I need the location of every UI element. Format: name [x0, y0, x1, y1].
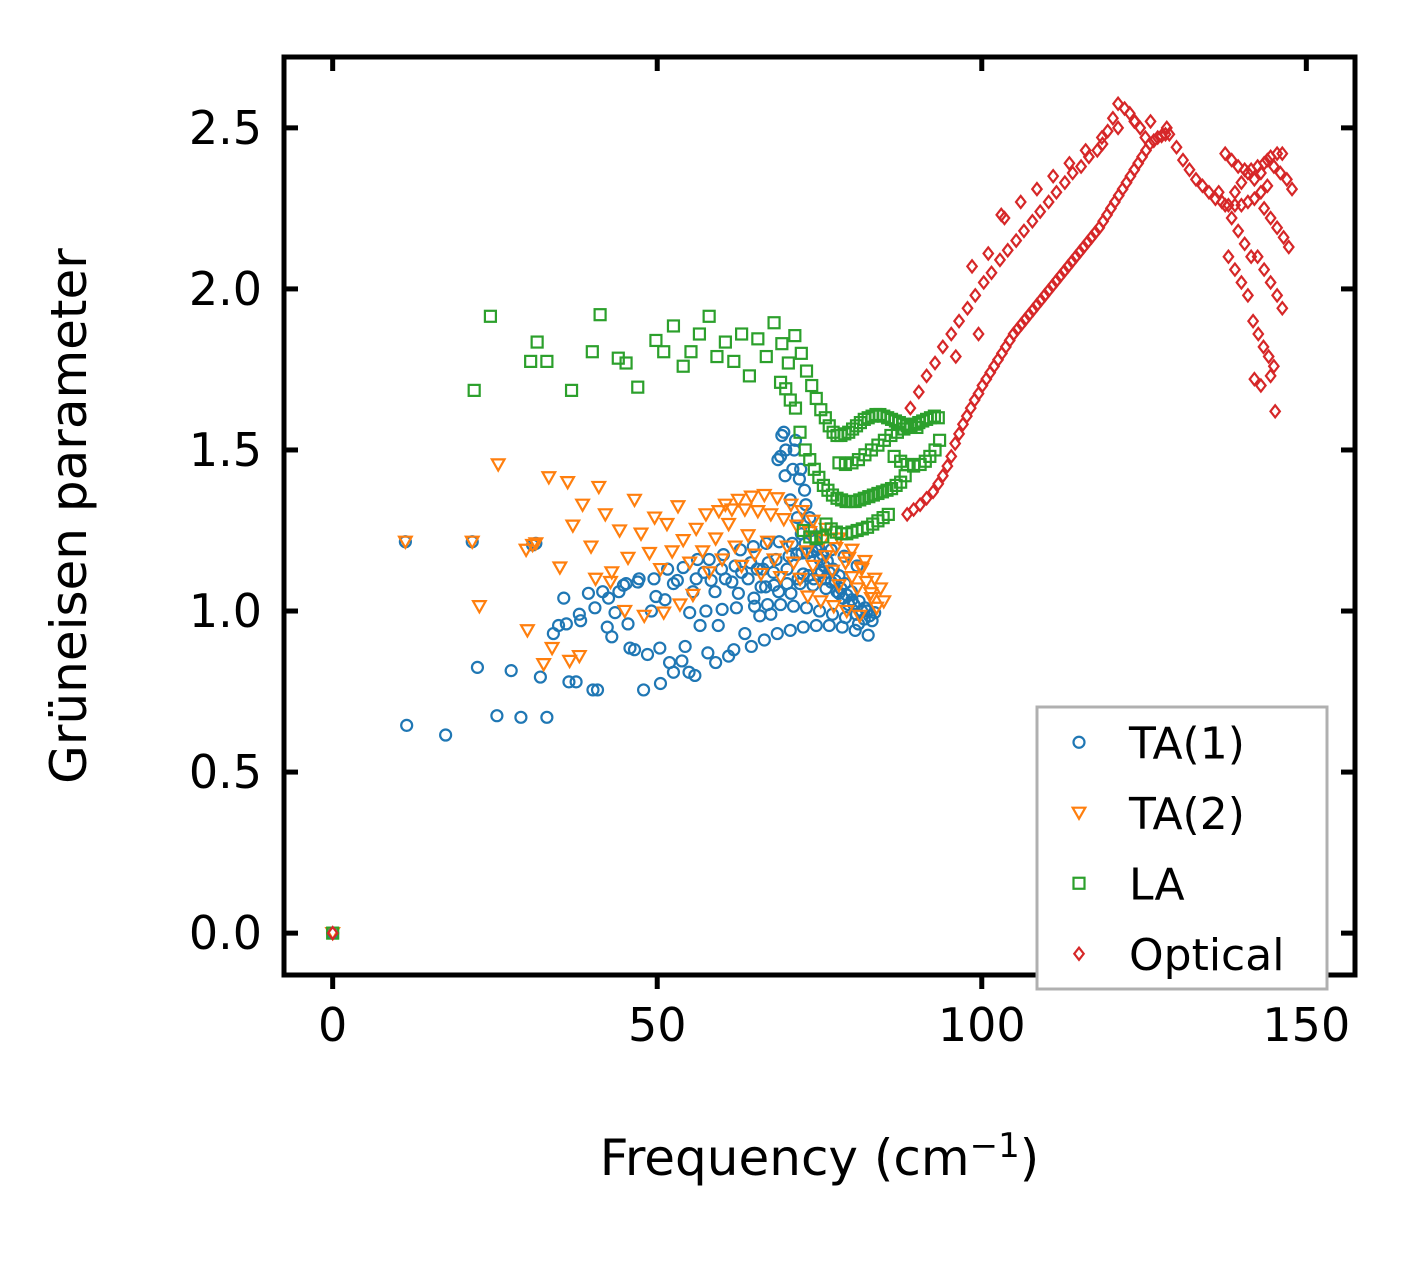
data-point-diamond — [1259, 264, 1268, 276]
data-point-circle — [772, 454, 783, 465]
data-point-triangle-down — [661, 519, 674, 530]
data-point-triangle-down — [567, 521, 580, 532]
data-point-square — [566, 385, 577, 396]
data-point-circle — [401, 720, 412, 731]
data-point-circle — [778, 427, 789, 438]
data-point-diamond — [1254, 328, 1263, 340]
data-point-diamond — [1230, 199, 1239, 211]
data-point-circle — [695, 620, 706, 631]
data-point-circle — [746, 641, 757, 652]
data-point-circle — [668, 667, 679, 678]
data-point-circle — [654, 643, 665, 654]
data-point-triangle-down — [846, 572, 859, 583]
data-point-diamond — [1279, 231, 1288, 243]
data-point-square — [776, 338, 787, 349]
data-point-triangle-down — [635, 529, 648, 540]
data-point-circle — [799, 485, 810, 496]
data-point-diamond — [1259, 341, 1268, 353]
data-point-square — [485, 311, 496, 322]
data-point-circle — [713, 620, 724, 631]
data-point-circle — [541, 712, 552, 723]
data-point-diamond — [1248, 315, 1257, 327]
data-point-circle — [702, 647, 713, 658]
data-point-triangle-down — [561, 477, 574, 488]
data-point-circle — [733, 588, 744, 599]
data-point-square — [587, 346, 598, 357]
data-point-triangle-down — [521, 625, 534, 636]
data-point-circle — [785, 625, 796, 636]
data-point-circle — [700, 606, 711, 617]
data-point-circle — [583, 588, 594, 599]
data-point-square — [811, 393, 822, 404]
data-point-triangle-down — [585, 542, 598, 553]
data-point-circle — [558, 593, 569, 604]
data-point-square — [720, 337, 731, 348]
data-point-diamond — [1233, 225, 1242, 237]
data-point-triangle-down — [683, 558, 696, 569]
legend-label: TA(1) — [1128, 718, 1245, 769]
data-point-triangle-down — [638, 611, 651, 622]
data-point-diamond — [971, 289, 980, 301]
data-point-diamond — [1230, 186, 1239, 198]
data-point-diamond — [1048, 170, 1057, 182]
data-point-circle — [606, 631, 617, 642]
data-point-triangle-down — [677, 535, 690, 546]
x-tick-label: 150 — [1262, 998, 1350, 1052]
data-point-circle — [571, 676, 582, 687]
data-point-square — [704, 311, 715, 322]
data-point-circle — [759, 635, 770, 646]
data-point-diamond — [967, 260, 976, 272]
data-point-diamond — [1035, 206, 1044, 218]
data-point-circle — [491, 710, 502, 721]
data-point-triangle-down — [687, 590, 700, 601]
data-point-diamond — [1011, 235, 1020, 247]
data-point-triangle-down — [643, 548, 656, 559]
data-point-square — [806, 380, 817, 391]
data-point-triangle-down — [690, 524, 703, 535]
data-point-triangle-down — [573, 651, 586, 662]
data-point-diamond — [979, 276, 988, 288]
data-point-square — [532, 337, 543, 348]
data-point-diamond — [1227, 212, 1236, 224]
data-point-triangle-down — [801, 591, 814, 602]
data-point-triangle-down — [576, 500, 589, 511]
data-point-triangle-down — [473, 601, 486, 612]
data-point-circle — [623, 618, 634, 629]
data-point-circle — [837, 622, 848, 633]
data-point-diamond — [1270, 405, 1279, 417]
data-point-diamond — [1172, 141, 1181, 153]
data-point-circle — [655, 678, 666, 689]
y-tick-label: 1.0 — [189, 584, 262, 638]
data-point-triangle-down — [700, 509, 713, 520]
data-point-triangle-down — [709, 533, 722, 544]
figure-scatter-plot: 0501001500.00.51.01.52.02.5Frequency (cm… — [0, 0, 1421, 1264]
data-point-diamond — [1266, 276, 1275, 288]
data-point-circle — [775, 599, 786, 610]
x-tick-label: 100 — [938, 998, 1026, 1052]
data-point-square — [769, 317, 780, 328]
y-tick-label: 2.5 — [189, 101, 262, 155]
data-point-diamond — [1113, 122, 1122, 134]
data-point-square — [685, 346, 696, 357]
data-point-diamond — [1264, 351, 1273, 363]
data-point-circle — [472, 662, 483, 673]
data-point-diamond — [1253, 251, 1262, 263]
data-point-diamond — [1287, 183, 1296, 195]
data-point-circle — [749, 601, 760, 612]
data-point-diamond — [1243, 289, 1252, 301]
x-tick-label: 0 — [318, 998, 347, 1052]
data-point-circle — [743, 573, 754, 584]
data-point-circle — [704, 554, 715, 565]
data-point-triangle-down — [722, 519, 735, 530]
data-point-circle — [676, 655, 687, 666]
data-point-circle — [811, 620, 822, 631]
data-point-square — [761, 351, 772, 362]
data-point-circle — [709, 586, 720, 597]
data-point-square — [752, 333, 763, 344]
data-point-square — [801, 366, 812, 377]
data-point-circle — [824, 620, 835, 631]
data-point-circle — [648, 573, 659, 584]
y-tick-label: 1.5 — [189, 423, 262, 477]
data-point-triangle-down — [745, 492, 758, 503]
data-point-diamond — [1146, 115, 1155, 127]
data-point-triangle-down — [752, 506, 765, 517]
data-point-square — [783, 358, 794, 369]
data-point-diamond — [1003, 244, 1012, 256]
data-point-square — [658, 346, 669, 357]
data-point-circle — [780, 470, 791, 481]
data-point-diamond — [1185, 164, 1194, 176]
data-point-circle — [798, 622, 809, 633]
data-point-triangle-down — [543, 472, 556, 483]
data-point-diamond — [1278, 302, 1287, 314]
data-point-diamond — [1272, 222, 1281, 234]
data-point-triangle-down — [774, 572, 787, 583]
data-point-diamond — [906, 402, 915, 414]
data-point-diamond — [984, 247, 993, 259]
data-point-diamond — [1230, 264, 1239, 276]
y-tick-label: 2.0 — [189, 262, 262, 316]
x-axis-title: Frequency (cm−1) — [600, 1126, 1040, 1187]
data-point-triangle-down — [628, 495, 641, 506]
data-point-triangle-down — [599, 509, 612, 520]
data-point-circle — [801, 602, 812, 613]
data-point-square — [525, 356, 536, 367]
data-point-circle — [561, 618, 572, 629]
data-point-diamond — [1044, 196, 1053, 208]
data-point-diamond — [1019, 225, 1028, 237]
data-point-triangle-down — [492, 459, 505, 470]
data-point-diamond — [1259, 202, 1268, 214]
data-point-triangle-down — [554, 562, 567, 573]
legend: TA(1)TA(2)LAOptical — [1037, 707, 1327, 989]
y-tick-label: 0.5 — [189, 745, 262, 799]
data-point-circle — [710, 657, 721, 668]
data-point-circle — [717, 604, 728, 615]
data-point-diamond — [1240, 238, 1249, 250]
data-point-square — [632, 382, 643, 393]
data-point-circle — [739, 628, 750, 639]
data-point-diamond — [1272, 289, 1281, 301]
data-point-square — [711, 351, 722, 362]
data-point-triangle-down — [613, 525, 626, 536]
legend-label: Optical — [1129, 930, 1284, 981]
data-point-square — [678, 361, 689, 372]
data-point-square — [469, 385, 480, 396]
data-point-square — [789, 330, 800, 341]
data-point-circle — [548, 628, 559, 639]
data-point-diamond — [947, 328, 956, 340]
data-point-diamond — [1284, 241, 1293, 253]
data-point-square — [796, 348, 807, 359]
data-point-circle — [762, 599, 773, 610]
data-point-triangle-down — [563, 656, 576, 667]
data-point-triangle-down — [666, 546, 679, 557]
data-point-triangle-down — [777, 514, 790, 525]
data-point-diamond — [995, 254, 1004, 266]
data-point-diamond — [1237, 276, 1246, 288]
data-point-triangle-down — [589, 574, 602, 585]
data-point-triangle-down — [846, 545, 859, 556]
series-ta1 — [327, 427, 880, 939]
data-point-circle — [772, 628, 783, 639]
data-point-diamond — [1246, 251, 1255, 263]
data-point-triangle-down — [696, 546, 709, 557]
data-point-triangle-down — [546, 643, 559, 654]
data-point-circle — [589, 602, 600, 613]
data-point-square — [668, 320, 679, 331]
data-point-circle — [515, 712, 526, 723]
data-point-circle — [638, 684, 649, 695]
data-point-diamond — [1052, 186, 1061, 198]
data-point-triangle-down — [622, 553, 635, 564]
data-point-square — [541, 356, 552, 367]
data-point-triangle-down — [742, 530, 755, 541]
data-point-diamond — [951, 351, 960, 363]
data-point-diamond — [1032, 183, 1041, 195]
data-point-circle — [680, 641, 691, 652]
data-point-diamond — [1266, 212, 1275, 224]
data-point-triangle-down — [739, 504, 752, 515]
data-point-triangle-down — [592, 482, 605, 493]
data-point-square — [694, 329, 705, 340]
y-tick-label: 0.0 — [189, 906, 262, 960]
data-point-diamond — [1016, 196, 1025, 208]
data-point-triangle-down — [764, 509, 777, 520]
data-point-triangle-down — [771, 493, 784, 504]
data-point-circle — [863, 630, 874, 641]
data-point-diamond — [938, 341, 947, 353]
data-point-diamond — [954, 315, 963, 327]
data-point-square — [728, 356, 739, 367]
data-point-circle — [788, 601, 799, 612]
data-point-triangle-down — [657, 608, 670, 619]
data-point-triangle-down — [537, 659, 550, 670]
data-point-square — [736, 329, 747, 340]
data-point-diamond — [930, 357, 939, 369]
data-point-diamond — [1028, 215, 1037, 227]
data-point-triangle-down — [758, 490, 771, 501]
legend-label: LA — [1129, 859, 1185, 910]
data-point-diamond — [1178, 154, 1187, 166]
data-point-diamond — [963, 302, 972, 314]
data-point-square — [744, 370, 755, 381]
data-point-circle — [731, 602, 742, 613]
data-point-circle — [506, 665, 517, 676]
data-point-diamond — [914, 386, 923, 398]
data-point-circle — [535, 672, 546, 683]
data-point-diamond — [922, 370, 931, 382]
data-point-diamond — [974, 328, 983, 340]
data-point-diamond — [1224, 251, 1233, 263]
x-tick-label: 50 — [628, 998, 687, 1052]
data-point-square — [650, 335, 661, 346]
legend-label: TA(2) — [1128, 789, 1245, 840]
data-point-triangle-down — [672, 501, 685, 512]
data-point-diamond — [1060, 177, 1069, 189]
data-point-circle — [684, 607, 695, 618]
data-point-square — [595, 309, 606, 320]
data-point-diamond — [1108, 112, 1117, 124]
data-point-circle — [440, 730, 451, 741]
y-axis-title: Grüneisen parameter — [40, 248, 98, 784]
data-point-diamond — [987, 267, 996, 279]
data-point-circle — [642, 649, 653, 660]
axis-labels-layer: 0501001500.00.51.01.52.02.5Frequency (cm… — [40, 101, 1350, 1187]
data-point-diamond — [1076, 160, 1085, 172]
data-point-diamond — [1237, 177, 1246, 189]
plot-canvas: 0501001500.00.51.01.52.02.5Frequency (cm… — [0, 0, 1421, 1264]
